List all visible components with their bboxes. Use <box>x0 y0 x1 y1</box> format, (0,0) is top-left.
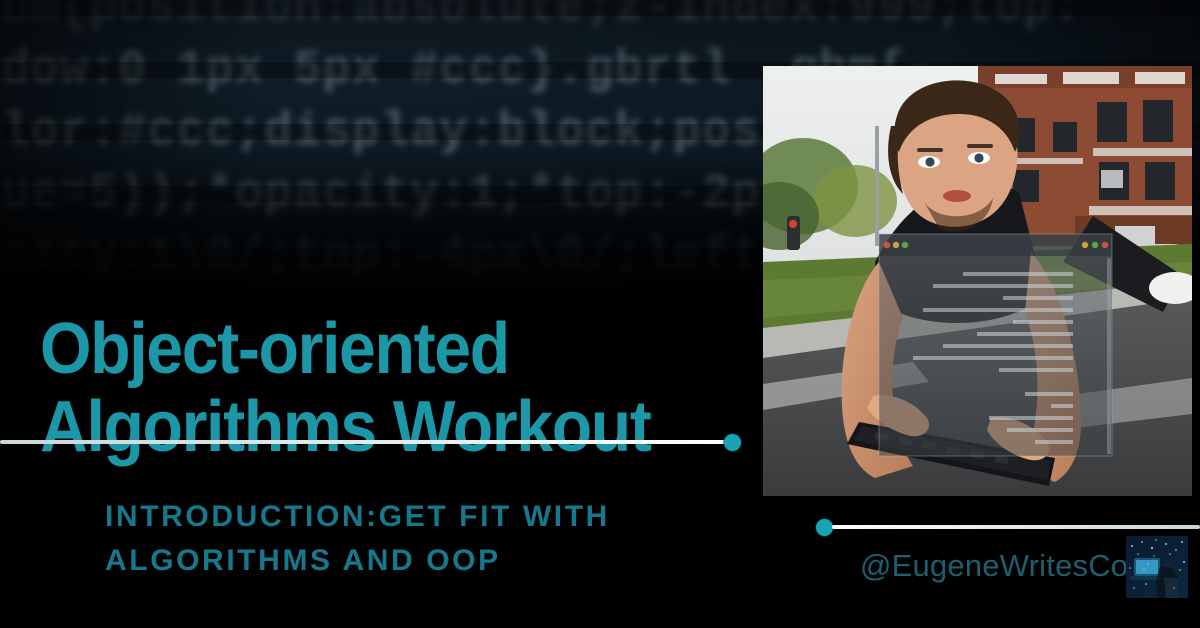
author-handle: @EugeneWritesCode <box>860 548 1163 584</box>
avatar-illustration <box>1126 536 1188 598</box>
divider-footer-rule <box>832 525 1200 529</box>
title-card-canvas: gbm{position:absolute;z-index:999;top: a… <box>0 0 1200 628</box>
hero-photo <box>763 66 1192 496</box>
divider-footer-dot-icon <box>816 519 833 536</box>
avatar <box>1126 536 1188 598</box>
page-title-line-2: Algorithms Workout <box>40 388 702 466</box>
divider-main-rule <box>0 440 727 444</box>
code-line: gbm{position:absolute;z-index:999;top: <box>0 0 1200 40</box>
divider-main-dot-icon <box>724 434 741 451</box>
hero-photo-illustration <box>763 66 1192 496</box>
page-title-line-1: Object-oriented <box>40 310 702 388</box>
page-subtitle-line-1: Introduction:Get Fit With <box>105 495 765 539</box>
page-subtitle-line-2: Algorithms and OOP <box>105 539 765 583</box>
divider-main <box>0 434 745 450</box>
page-subtitle: Introduction:Get Fit With Algorithms and… <box>105 495 765 583</box>
divider-footer <box>816 519 1200 535</box>
